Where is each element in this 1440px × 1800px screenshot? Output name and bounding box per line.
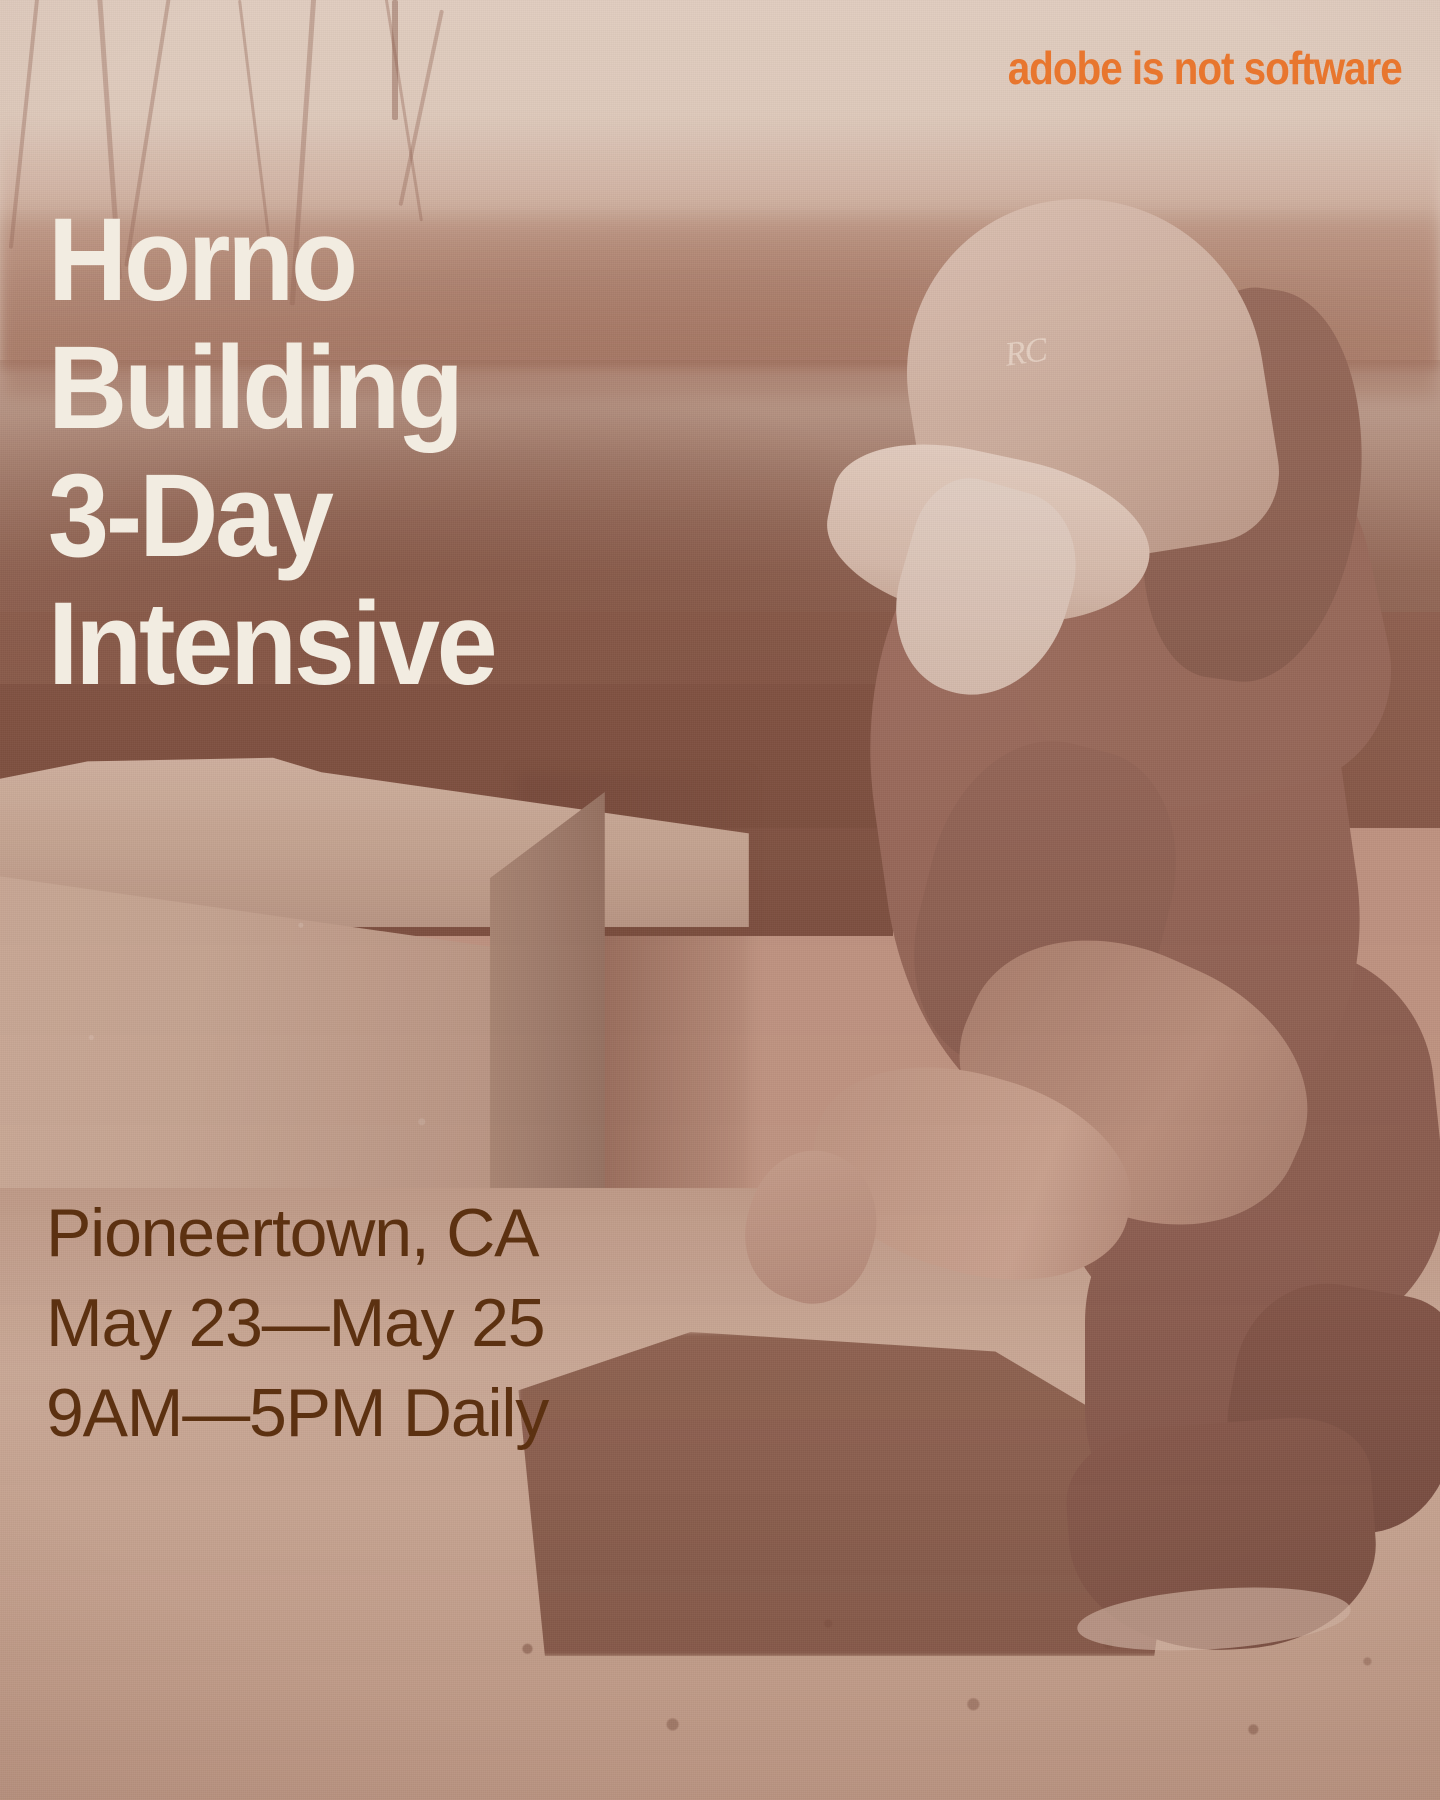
headline-line-3: 3-Day <box>48 452 494 580</box>
poster: RC adobe is not software Horno Building … <box>0 0 1440 1800</box>
event-details: Pioneertown, CA May 23—May 25 9AM—5PM Da… <box>46 1188 548 1458</box>
headline-line-4: Intensive <box>48 580 494 708</box>
event-dates: May 23—May 25 <box>46 1278 548 1368</box>
headline-line-2: Building <box>48 324 494 452</box>
page-title: Horno Building 3-Day Intensive <box>48 196 494 708</box>
event-location: Pioneertown, CA <box>46 1188 548 1278</box>
poster-content: adobe is not software Horno Building 3-D… <box>0 0 1440 1800</box>
event-hours: 9AM—5PM Daily <box>46 1368 548 1458</box>
headline-line-1: Horno <box>48 196 494 324</box>
tagline: adobe is not software <box>1008 41 1402 95</box>
